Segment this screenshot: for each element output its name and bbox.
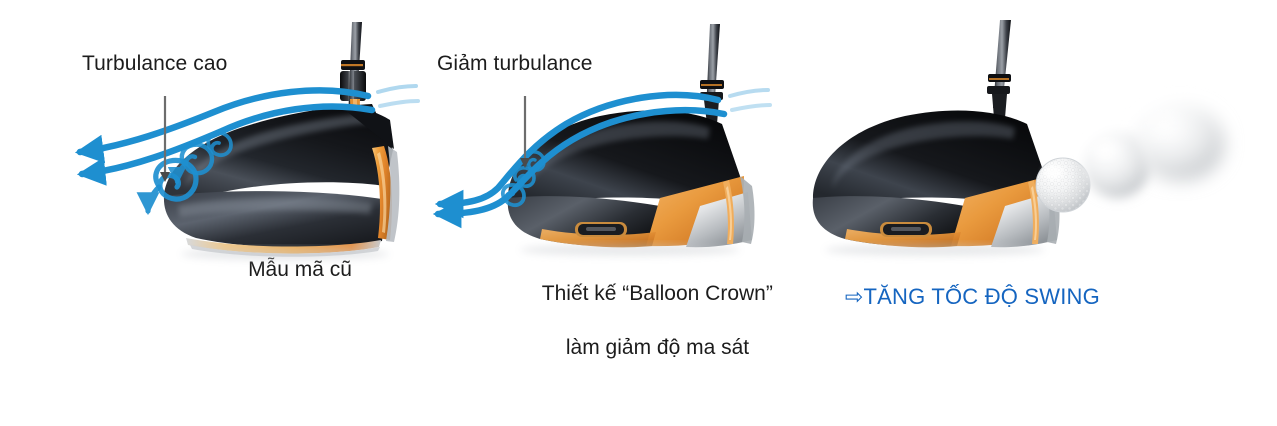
callout-label-turbulance: Turbulance cao (82, 51, 227, 77)
caption-swing-speed: ⇨TĂNG TỐC ĐỘ SWING (770, 256, 1190, 337)
caption-balloon-crown: Thiết kế “Balloon Crown” làm giảm độ ma … (480, 253, 800, 388)
figure-root: Turbulance cao Mẫu mã cũ Giảm turbulance… (0, 0, 1277, 426)
caption-old-model: Mẫu mã cũ (150, 256, 450, 283)
panel-old-model: Turbulance cao Mẫu mã cũ (0, 0, 430, 426)
panel-balloon-crown: Giảm turbulance Thiết kế “Balloon Crown”… (420, 0, 800, 426)
caption-swing-text: TĂNG TỐC ĐỘ SWING (864, 284, 1100, 309)
panel-swing-speed: ⇨TĂNG TỐC ĐỘ SWING (780, 0, 1277, 426)
callout-label-reduced-turbulence: Giảm turbulance (437, 51, 593, 77)
double-arrow-icon: ⇨ (845, 284, 864, 309)
caption-balloon-line1: Thiết kế “Balloon Crown” (542, 282, 773, 305)
caption-balloon-line2: làm giảm độ ma sát (566, 336, 749, 359)
